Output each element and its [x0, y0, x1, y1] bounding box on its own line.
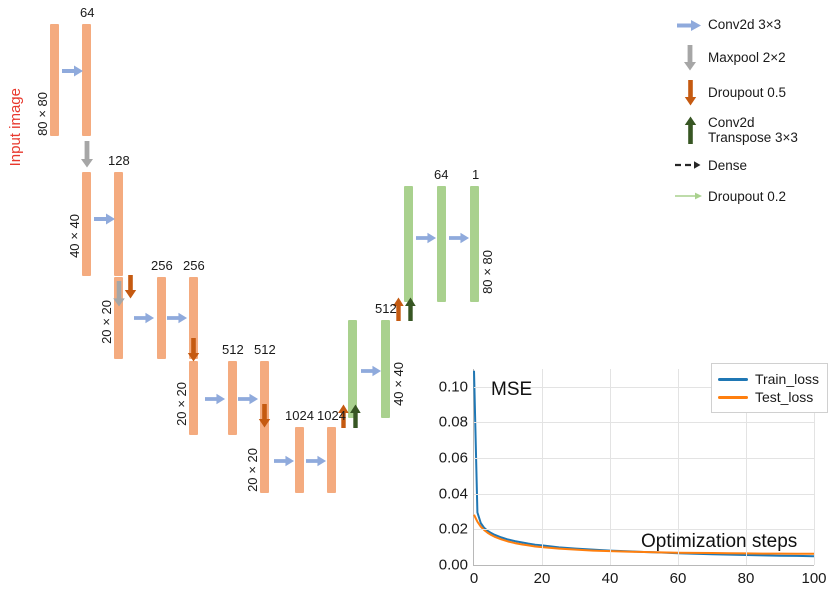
chart-gridline-h	[474, 422, 814, 423]
channel-label-512-dec: 512	[375, 302, 397, 315]
diagram-legend: Conv2d 3×3 Maxpool 2×2 Droupout 0.5 Conv…	[672, 14, 827, 216]
conv2d-arrow-icon	[62, 64, 84, 78]
conv2d-arrow-icon	[238, 392, 259, 406]
channel-label-1-out: 1	[472, 168, 479, 181]
encoder-block-input	[50, 24, 59, 136]
conv2d-arrow-icon	[134, 311, 155, 325]
channel-label-512-a: 512	[222, 343, 244, 356]
chart-ytick: 0.02	[439, 521, 468, 538]
test-loss-label: Test_loss	[755, 389, 813, 405]
dropout-arrow-icon	[124, 275, 137, 299]
channel-label-64: 64	[80, 6, 94, 19]
chart-legend-item-train: Train_loss	[718, 371, 819, 387]
decoder-block-512-b	[381, 320, 390, 418]
channel-label-256-a: 256	[151, 259, 173, 272]
chart-xtick: 20	[534, 570, 551, 587]
resolution-label-40x40-dec: 40×40	[392, 362, 405, 406]
legend-label-dense: Dense	[708, 158, 747, 173]
legend-item-maxpool: Maxpool 2×2	[672, 45, 827, 71]
chart-gridline-h	[474, 458, 814, 459]
chart-xtick: 100	[801, 570, 826, 587]
encoder-block-512-a	[228, 361, 237, 435]
decoder-block-64	[437, 186, 446, 302]
chart-xtick: 60	[670, 570, 687, 587]
chart-gridline-v	[610, 369, 611, 565]
conv2d-arrow-icon	[672, 19, 708, 32]
conv2d-arrow-icon	[274, 454, 295, 468]
legend-label-conv2d: Conv2d 3×3	[708, 17, 781, 32]
output-block-1	[470, 186, 479, 302]
channel-label-1024-b: 1024	[317, 409, 346, 422]
conv2d-transpose-arrow-icon	[405, 297, 416, 321]
encoder-block-256-dropped	[189, 361, 198, 435]
conv2d-transpose-arrow-icon	[350, 404, 361, 428]
conv2d-arrow-icon	[361, 364, 382, 378]
loss-chart: 0.000.020.040.060.080.10020406080100 MSE…	[416, 357, 831, 609]
chart-legend-item-test: Test_loss	[718, 389, 819, 405]
train-loss-label: Train_loss	[755, 371, 819, 387]
chart-title-mse: MSE	[491, 379, 532, 401]
conv2d-arrow-icon	[94, 212, 116, 226]
legend-label-dropout02: Droupout 0.2	[708, 189, 786, 204]
encoder-block-256-a	[157, 277, 166, 359]
chart-legend: Train_loss Test_loss	[711, 363, 828, 413]
encoder-block-64-pooled	[82, 172, 91, 276]
conv2d-arrow-icon	[167, 311, 188, 325]
legend-item-conv2d: Conv2d 3×3	[672, 14, 827, 36]
unet-architecture-figure: 64 128 256 256 512 512 1024 1024 512 64 …	[0, 0, 831, 609]
channel-label-256-b: 256	[183, 259, 205, 272]
chart-xtick: 40	[602, 570, 619, 587]
channel-label-1024-a: 1024	[285, 409, 314, 422]
legend-item-dropout05: Droupout 0.5	[672, 80, 827, 106]
test-loss-swatch	[718, 396, 748, 399]
bottleneck-block-1024-a	[295, 427, 304, 493]
dropout-arrow-icon	[258, 404, 271, 428]
bottleneck-block-input	[260, 427, 269, 493]
train-loss-swatch	[718, 378, 748, 381]
conv2d-arrow-icon	[416, 231, 437, 245]
resolution-label-20x20-c: 20×20	[246, 448, 259, 492]
chart-gridline-v	[542, 369, 543, 565]
dense-arrow-icon	[672, 159, 708, 171]
channel-label-512-b: 512	[254, 343, 276, 356]
legend-label-conv2d-transpose: Conv2d Transpose 3×3	[708, 115, 798, 145]
conv2d-transpose-arrow-icon	[672, 116, 708, 144]
legend-label-maxpool: Maxpool 2×2	[708, 50, 786, 65]
chart-ytick: 0.06	[439, 450, 468, 467]
bottleneck-block-1024-b	[327, 427, 336, 493]
resolution-label-20x20-b: 20×20	[175, 382, 188, 426]
chart-xlabel: Optimization steps	[641, 531, 797, 553]
chart-ytick: 0.08	[439, 414, 468, 431]
legend-item-dense: Dense	[672, 154, 827, 176]
chart-gridline-h	[474, 494, 814, 495]
dropout-arrow-icon	[672, 80, 708, 106]
resolution-label-40x40: 40×40	[68, 214, 81, 258]
chart-xtick: 0	[470, 570, 478, 587]
dropout-arrow-icon	[187, 338, 200, 362]
channel-label-64-dec: 64	[434, 168, 448, 181]
decoder-block-upsampled	[404, 186, 413, 302]
legend-item-conv2d-transpose: Conv2d Transpose 3×3	[672, 115, 827, 145]
maxpool-arrow-icon	[80, 141, 94, 168]
legend-label-dropout05: Droupout 0.5	[708, 85, 786, 100]
chart-ytick: 0.10	[439, 378, 468, 395]
chart-xtick: 80	[738, 570, 755, 587]
chart-ytick: 0.00	[439, 557, 468, 574]
conv2d-arrow-icon	[205, 392, 226, 406]
resolution-label-80x80-in: 80×80	[36, 92, 49, 136]
resolution-label-80x80-out: 80×80	[481, 250, 494, 294]
dropout-light-arrow-icon	[672, 190, 708, 202]
channel-label-128: 128	[108, 154, 130, 167]
conv2d-arrow-icon	[306, 454, 327, 468]
input-image-label: Input image	[8, 88, 23, 166]
conv2d-arrow-icon	[449, 231, 470, 245]
resolution-label-20x20-a: 20×20	[100, 300, 113, 344]
chart-ytick: 0.04	[439, 485, 468, 502]
maxpool-arrow-icon	[672, 45, 708, 71]
encoder-block-64	[82, 24, 91, 136]
legend-item-dropout02: Droupout 0.2	[672, 185, 827, 207]
